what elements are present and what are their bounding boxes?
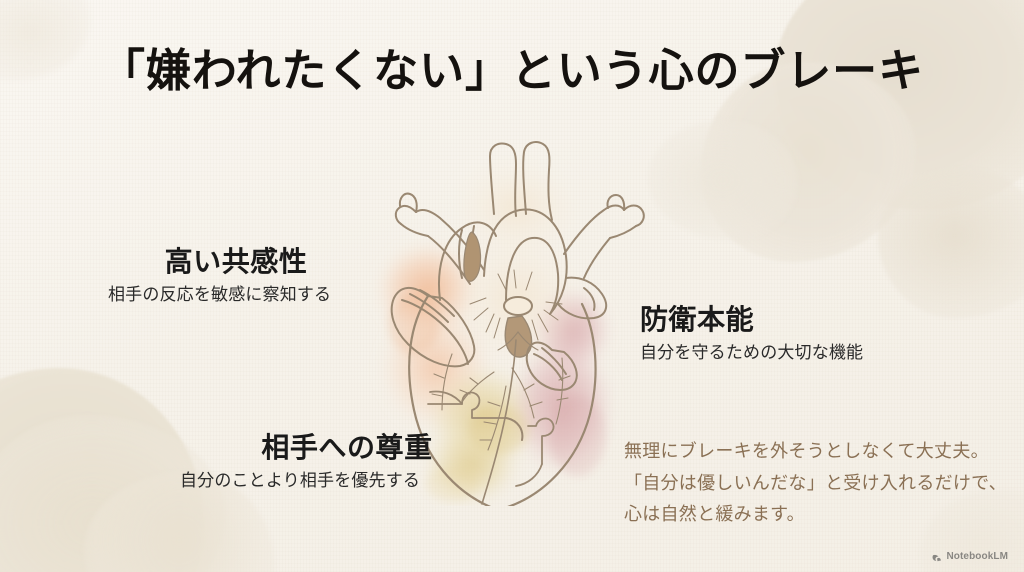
label-empathy-desc: 相手の反応を敏感に察知する bbox=[108, 284, 370, 307]
notebooklm-label: NotebookLM bbox=[946, 551, 1008, 562]
slide-canvas: 「嫌われたくない」という心のブレーキ bbox=[0, 0, 1024, 572]
label-defense-desc: 自分を守るための大切な機能 bbox=[640, 342, 863, 365]
label-defense: 防衛本能 自分を守るための大切な機能 bbox=[640, 302, 863, 365]
label-respect-desc: 自分のことより相手を優先する bbox=[180, 470, 452, 493]
handwritten-note-line-3: 心は自然と緩みます。 bbox=[624, 499, 1007, 531]
label-respect: 相手への尊重 自分のことより相手を優先する bbox=[180, 430, 452, 493]
handwritten-note-line-2: 「自分は優しいんだな」と受け入れるだけで、 bbox=[624, 468, 1007, 500]
label-empathy: 高い共感性 相手の反応を敏感に察知する bbox=[108, 244, 370, 307]
watercolor-blob-top-right-1 bbox=[774, 0, 1024, 210]
label-empathy-title: 高い共感性 bbox=[108, 244, 370, 279]
slide-title: 「嫌われたくない」という心のブレーキ bbox=[0, 44, 1024, 98]
notebooklm-logo-icon bbox=[931, 551, 942, 562]
handwritten-note: 無理にブレーキを外そうとしなくて大丈夫。 「自分は優しいんだな」と受け入れるだけ… bbox=[624, 436, 1007, 531]
watercolor-blob-top-right-3 bbox=[648, 120, 798, 240]
watercolor-blob-top-right-4 bbox=[878, 168, 1024, 318]
watercolor-blob-bottom-left-1 bbox=[0, 368, 204, 572]
handwritten-note-line-1: 無理にブレーキを外そうとしなくて大丈夫。 bbox=[624, 436, 1007, 468]
label-defense-title: 防衛本能 bbox=[640, 302, 863, 337]
notebooklm-watermark: NotebookLM bbox=[931, 551, 1008, 562]
label-respect-title: 相手への尊重 bbox=[180, 430, 452, 465]
